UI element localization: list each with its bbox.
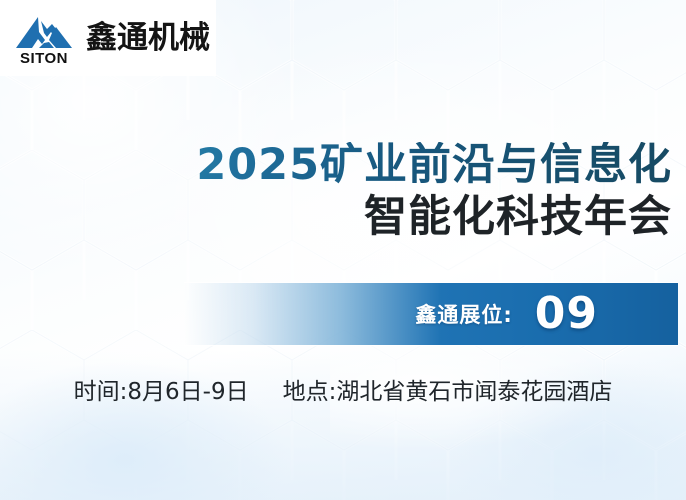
headline-line-2: 智能化科技年会 [0,194,672,240]
event-details: 时间:8月6日-9日 地点:湖北省黄石市闻泰花园酒店 [0,372,686,406]
logo-zh-text: 鑫通机械 [86,23,210,54]
background-swoosh [330,336,630,456]
booth-label: 鑫通展位: [415,299,512,329]
mountain-logo-icon: SITON [8,10,80,66]
event-place: 地点:湖北省黄石市闻泰花园酒店 [283,372,613,406]
headline-line-1: 2025矿业前沿与信息化 [0,142,672,188]
booth-banner: 鑫通展位: 09 [184,283,678,345]
background-wash-bottom [0,350,686,500]
event-time: 时间:8月6日-9日 [74,372,249,406]
poster-headline: 2025矿业前沿与信息化 智能化科技年会 [0,142,672,241]
logo-en-text: SITON [20,50,68,66]
booth-number: 09 [535,292,598,336]
brand-logo: SITON 鑫通机械 [0,0,216,76]
event-poster: SITON 鑫通机械 2025矿业前沿与信息化 智能化科技年会 鑫通展位: 09… [0,0,686,500]
background-wash-bottom-right [446,360,686,500]
background-wash-bottom-left [0,360,290,500]
